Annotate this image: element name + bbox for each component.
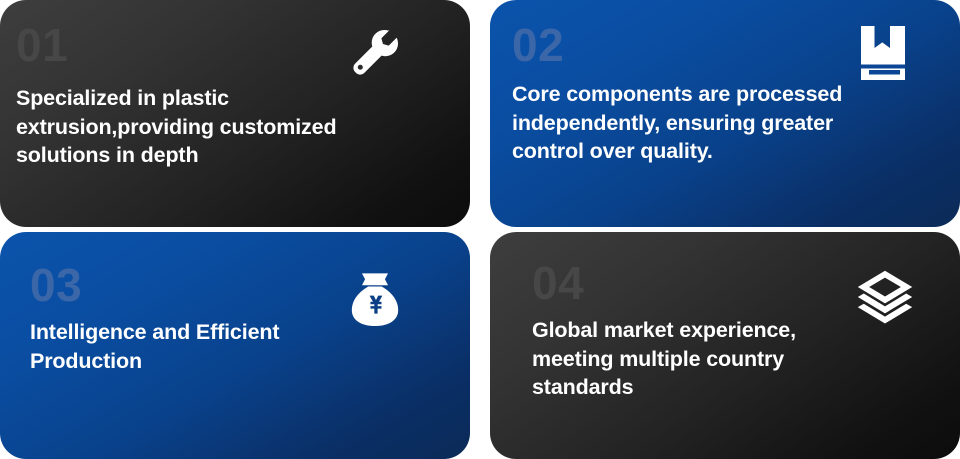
wrench-icon [344, 22, 406, 84]
feature-card-02[interactable]: 02 Core components are processed indepen… [490, 0, 960, 227]
feature-card-03[interactable]: 03 Intelligence and Efficient Production [0, 232, 470, 459]
card-description: Global market experience, meeting multip… [532, 316, 934, 402]
card-content: 01 Specialized in plastic extrusion,prov… [16, 22, 444, 207]
card-content: 04 Global market experience, meeting mul… [532, 260, 934, 439]
feature-card-01[interactable]: 01 Specialized in plastic extrusion,prov… [0, 0, 470, 227]
book-bookmark-icon [852, 22, 914, 84]
layers-stack-icon [854, 266, 916, 328]
feature-card-grid: 01 Specialized in plastic extrusion,prov… [0, 0, 960, 459]
card-description: Core components are processed independen… [512, 80, 934, 166]
feature-card-04[interactable]: 04 Global market experience, meeting mul… [490, 232, 960, 459]
card-description: Specialized in plastic extrusion,providi… [16, 84, 444, 170]
card-content: 03 Intelligence and Efficient Production [30, 262, 444, 439]
card-content: 02 Core components are processed indepen… [512, 22, 934, 207]
money-bag-yen-icon [344, 268, 406, 330]
